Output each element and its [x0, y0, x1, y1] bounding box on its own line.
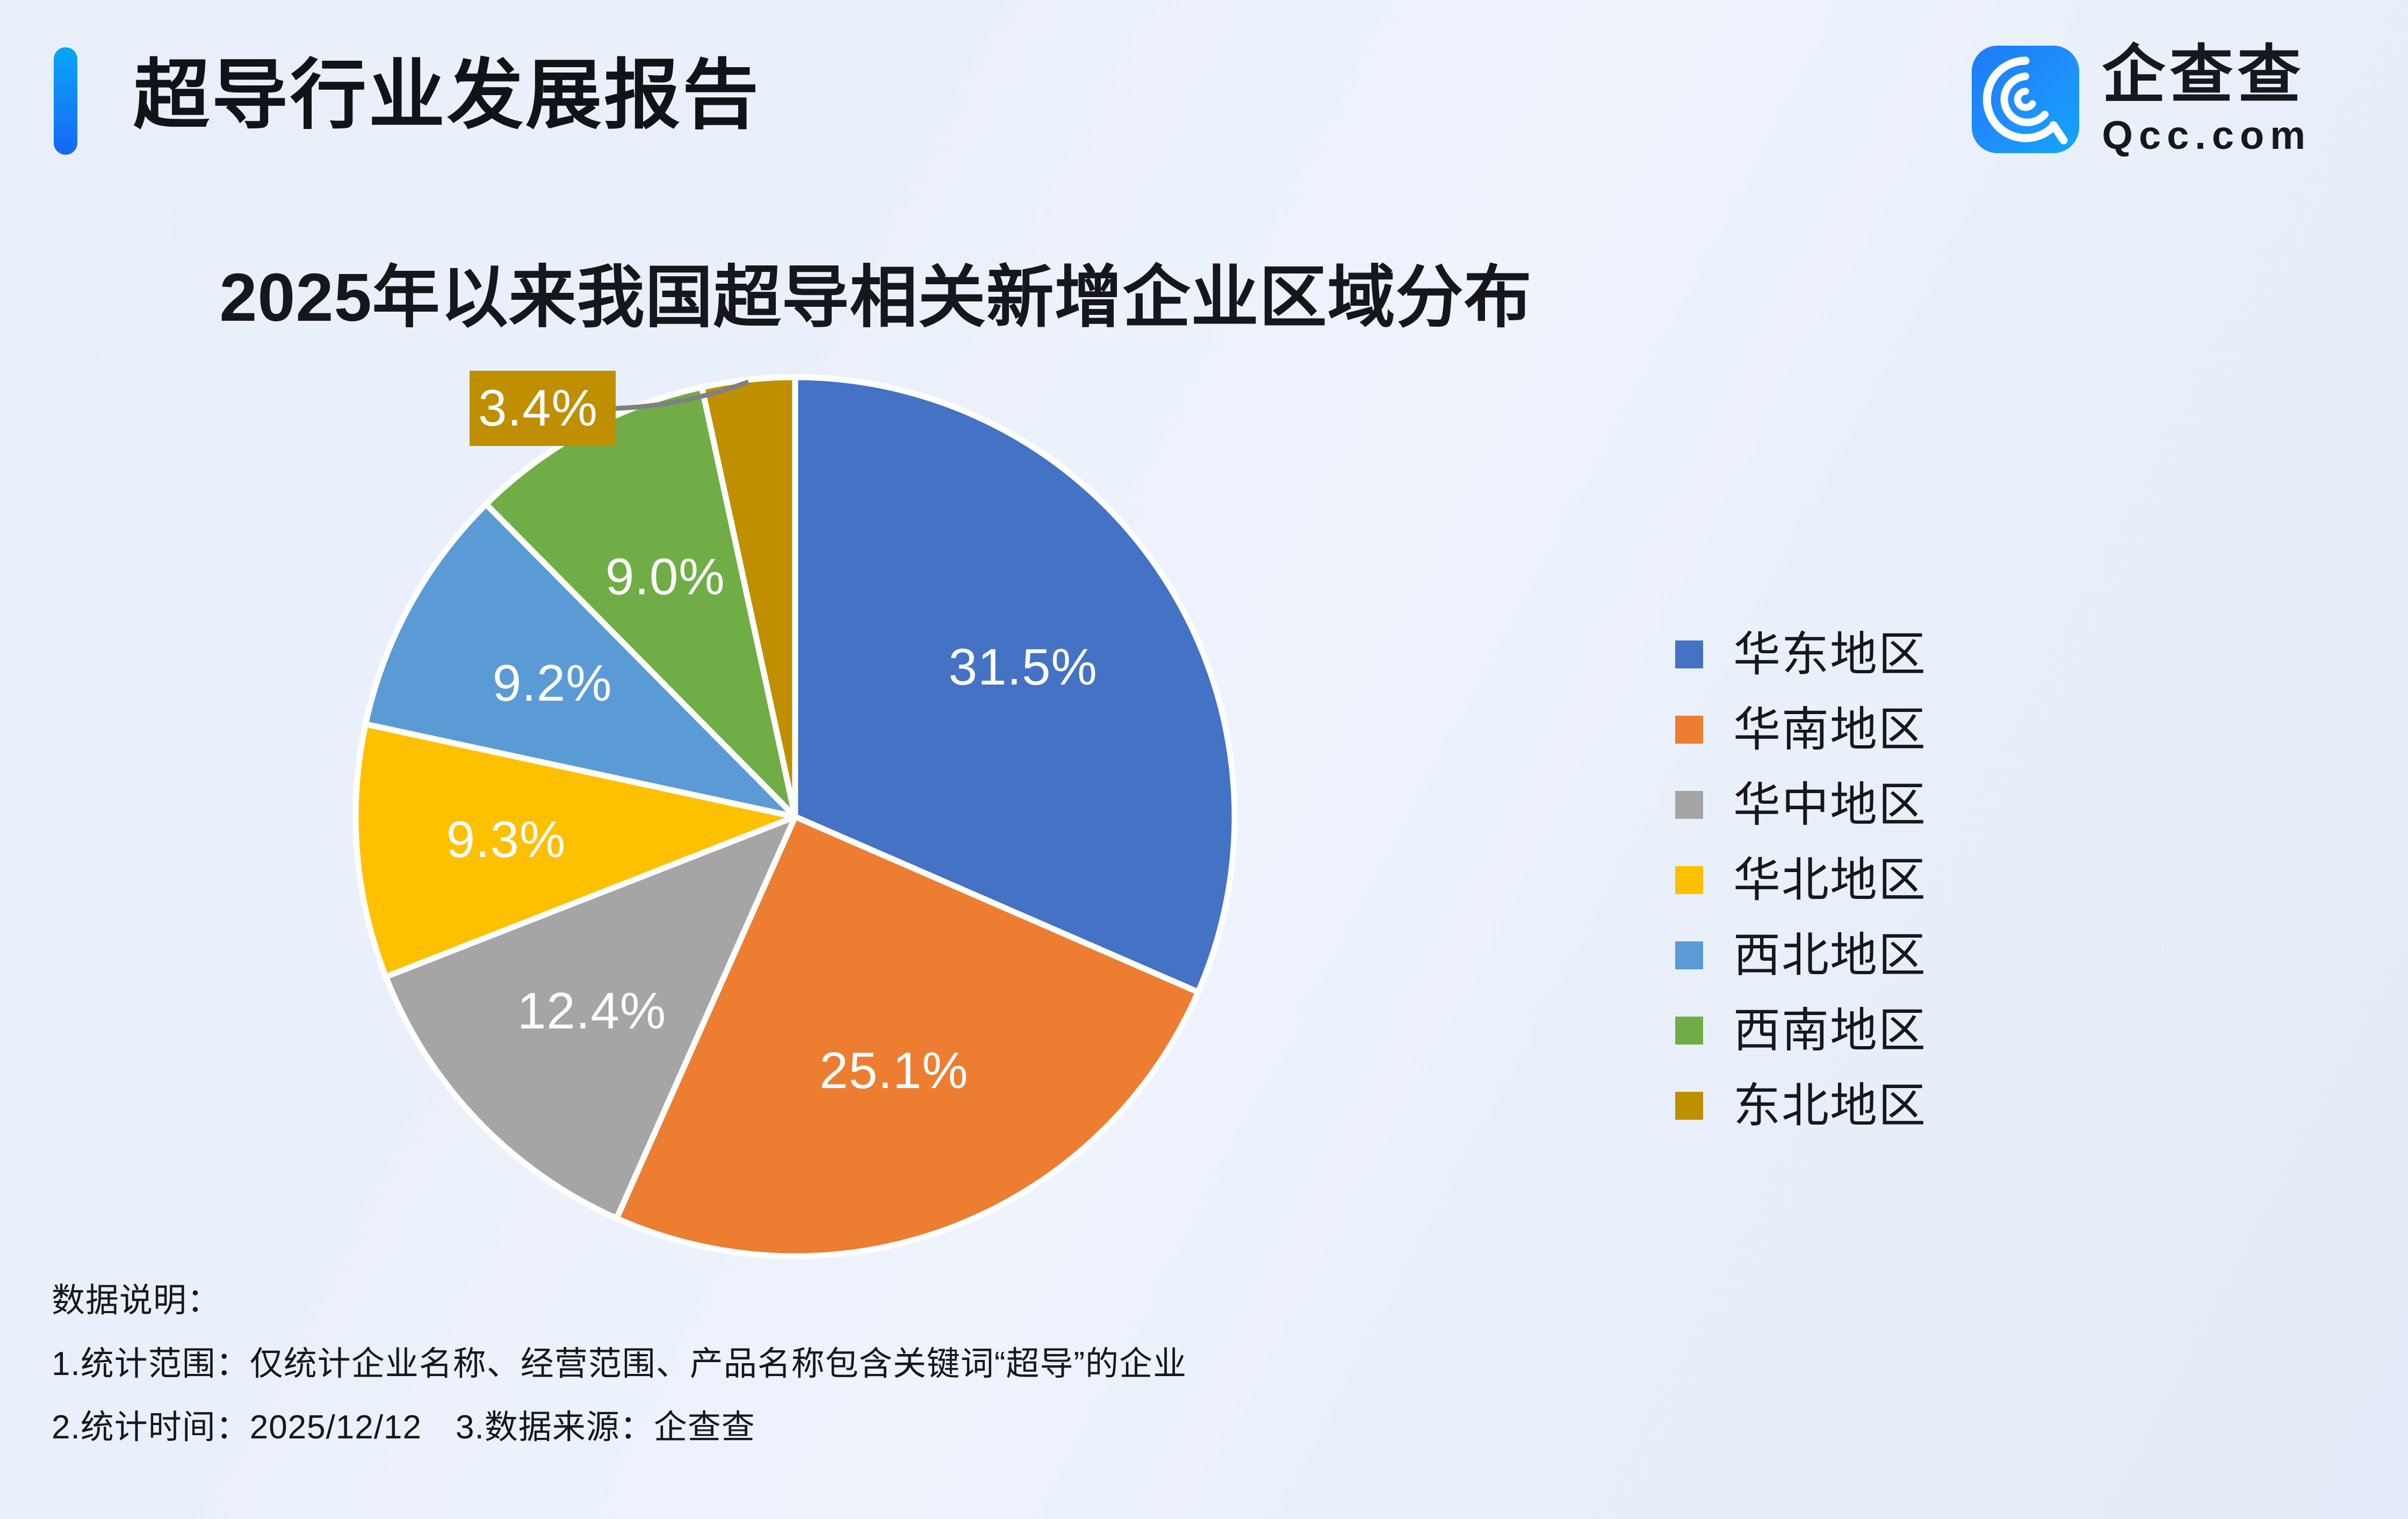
legend-color-swatch [1675, 1092, 1703, 1120]
footnotes-block: 数据说明： 1.统计范围：仅统计企业名称、经营范围、产品名称包含关键词“超导”的… [52, 1284, 1187, 1444]
pie-slice-label: 31.5% [949, 638, 1098, 697]
pie-slice[interactable] [356, 724, 795, 977]
pie-slice[interactable] [617, 817, 1198, 1256]
pie-slice-label: 9.0% [605, 548, 725, 607]
legend-item-label: 东北地区 [1733, 1082, 1927, 1129]
callout-label-east-north: 3.4% [470, 371, 616, 446]
legend-item[interactable]: 华北地区 [1675, 843, 1927, 918]
report-title: 超导行业发展报告 [133, 43, 761, 148]
callout-leader-line [616, 382, 748, 408]
title-accent-bar [54, 47, 77, 155]
legend-item[interactable]: 华南地区 [1675, 692, 1927, 767]
legend-item[interactable]: 东北地区 [1675, 1068, 1927, 1143]
legend-color-swatch [1675, 791, 1703, 819]
legend-color-swatch [1675, 640, 1703, 668]
qcc-spiral-q-icon [1972, 46, 2079, 153]
legend-item-label: 华南地区 [1733, 706, 1927, 753]
chart-legend: 华东地区华南地区华中地区华北地区西北地区西南地区东北地区 [1675, 617, 1927, 1143]
pie-slices [356, 377, 1235, 1256]
legend-item-label: 西南地区 [1733, 1007, 1927, 1054]
legend-color-swatch [1675, 866, 1703, 894]
leader-line [616, 382, 748, 408]
pie-slice[interactable] [702, 377, 795, 817]
brand-name-cn: 企查查 [2102, 42, 2305, 109]
pie-slice[interactable] [795, 377, 1235, 992]
chart-title: 2025年以来我国超导相关新增企业区域分布 [0, 243, 1751, 341]
pie-slice-label: 9.2% [493, 654, 612, 713]
legend-color-swatch [1675, 716, 1703, 744]
legend-color-swatch [1675, 1017, 1703, 1045]
legend-item-label: 华中地区 [1733, 781, 1927, 829]
callout-label-value: 3.4% [478, 379, 598, 438]
legend-item-label: 华东地区 [1733, 631, 1927, 678]
page-header: 超导行业发展报告 企查查 Qcc.com [0, 0, 2408, 210]
footnote-heading: 数据说明： [52, 1284, 1187, 1318]
pie-slice-label: 25.1% [819, 1041, 968, 1100]
pie-slice-label: 9.3% [446, 810, 566, 869]
pie-slice[interactable] [486, 387, 795, 817]
pie-chart-svg [344, 365, 1246, 1268]
footnote-scope: 1.统计范围：仅统计企业名称、经营范围、产品名称包含关键词“超导”的企业 [52, 1348, 1187, 1381]
pie-slice-label: 12.4% [517, 982, 666, 1041]
pie-slice[interactable] [386, 817, 795, 1218]
brand-logo-text: 企查查 Qcc.com [2102, 42, 2311, 157]
legend-item[interactable]: 华中地区 [1675, 767, 1927, 843]
legend-item[interactable]: 华东地区 [1675, 617, 1927, 692]
brand-name-en: Qcc.com [2102, 113, 2311, 157]
legend-item-label: 华北地区 [1733, 856, 1927, 904]
footnote-time-source: 2.统计时间：2025/12/12 3.数据来源：企查查 [52, 1411, 1187, 1444]
brand-logo: 企查查 Qcc.com [1972, 42, 2311, 157]
legend-item-label: 西北地区 [1733, 932, 1927, 979]
pie-slice[interactable] [365, 504, 795, 817]
legend-item[interactable]: 西北地区 [1675, 918, 1927, 993]
legend-color-swatch [1675, 941, 1703, 969]
legend-item[interactable]: 西南地区 [1675, 993, 1927, 1068]
